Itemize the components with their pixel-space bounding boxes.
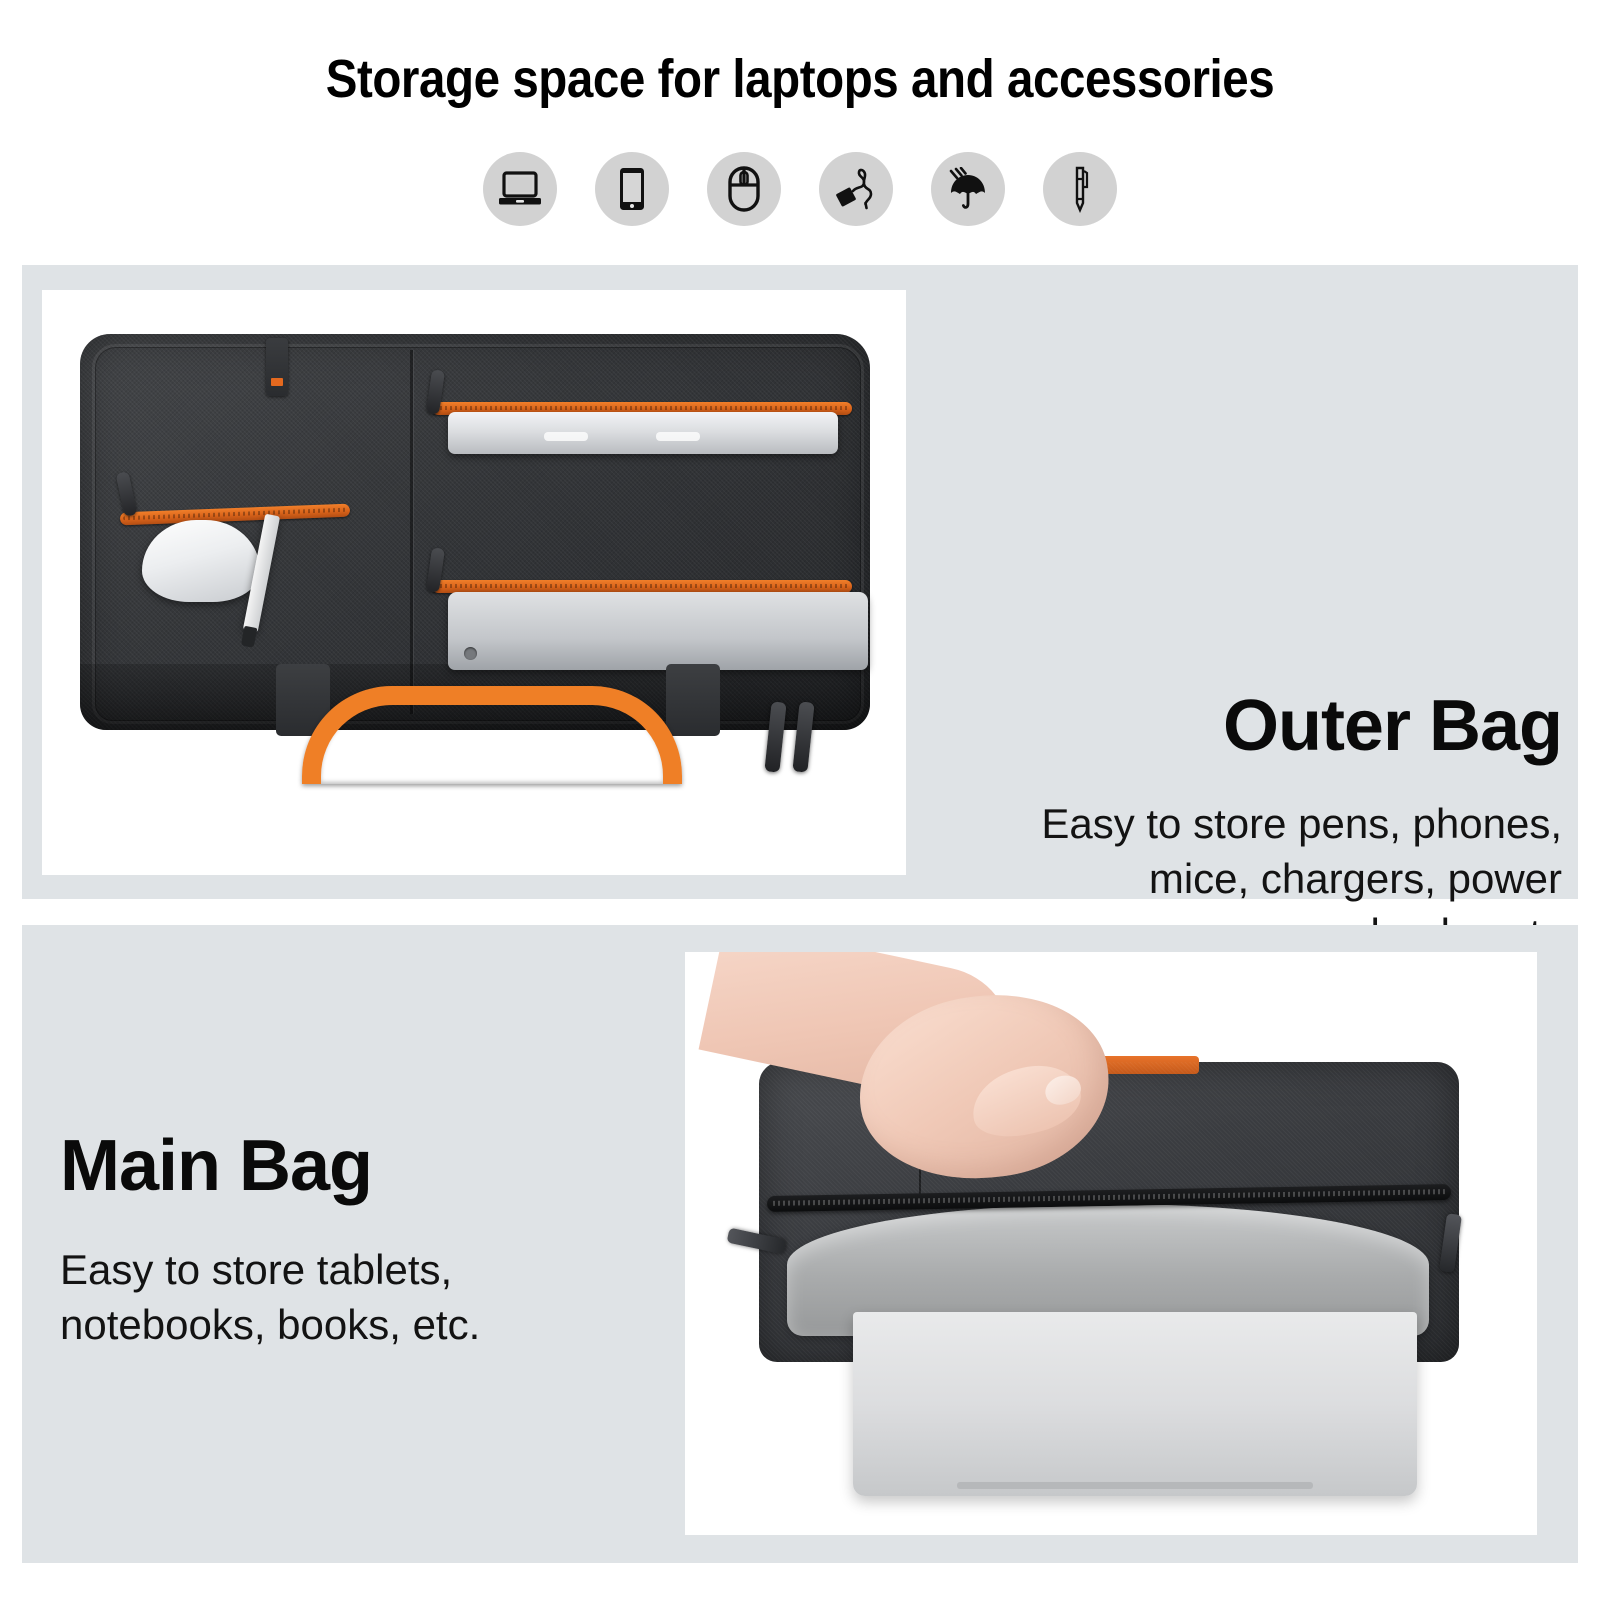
main-bag-copy: Main Bag Easy to store tablets, notebook… bbox=[60, 1130, 600, 1353]
charger-icon bbox=[819, 152, 893, 226]
bag-vertical-seam bbox=[410, 350, 413, 714]
outer-bag-headline: Outer Bag bbox=[952, 690, 1562, 763]
outer-bag-copy: Outer Bag Easy to store pens, phones, mi… bbox=[952, 690, 1562, 961]
umbrella-icon bbox=[931, 152, 1005, 226]
photo-main-bag bbox=[685, 952, 1537, 1535]
panel-main-bag: Main Bag Easy to store tablets, notebook… bbox=[22, 925, 1578, 1563]
main-bag-headline: Main Bag bbox=[60, 1130, 600, 1203]
brand-tag bbox=[266, 338, 288, 396]
carry-handle bbox=[302, 686, 682, 784]
main-bag-body-text: Easy to store tablets, notebooks, books,… bbox=[60, 1243, 600, 1352]
feature-icon-row bbox=[0, 152, 1600, 226]
laptop-in-bag bbox=[853, 1312, 1417, 1496]
bag-open-illustration bbox=[739, 1062, 1479, 1502]
mouse-in-pocket bbox=[142, 520, 260, 602]
tablet-in-pocket bbox=[448, 592, 868, 670]
bag-flat-lay-illustration bbox=[80, 334, 870, 784]
hand-opening-bag bbox=[709, 952, 1129, 1250]
mouse-icon bbox=[707, 152, 781, 226]
handle-strap-right bbox=[666, 664, 720, 736]
page-title: Storage space for laptops and accessorie… bbox=[96, 48, 1504, 110]
photo-outer-bag bbox=[42, 290, 906, 875]
pen-icon bbox=[1043, 152, 1117, 226]
phone-icon bbox=[595, 152, 669, 226]
laptop-icon bbox=[483, 152, 557, 226]
phone-in-pocket bbox=[448, 412, 838, 454]
panel-outer-bag: Outer Bag Easy to store pens, phones, mi… bbox=[22, 265, 1578, 899]
